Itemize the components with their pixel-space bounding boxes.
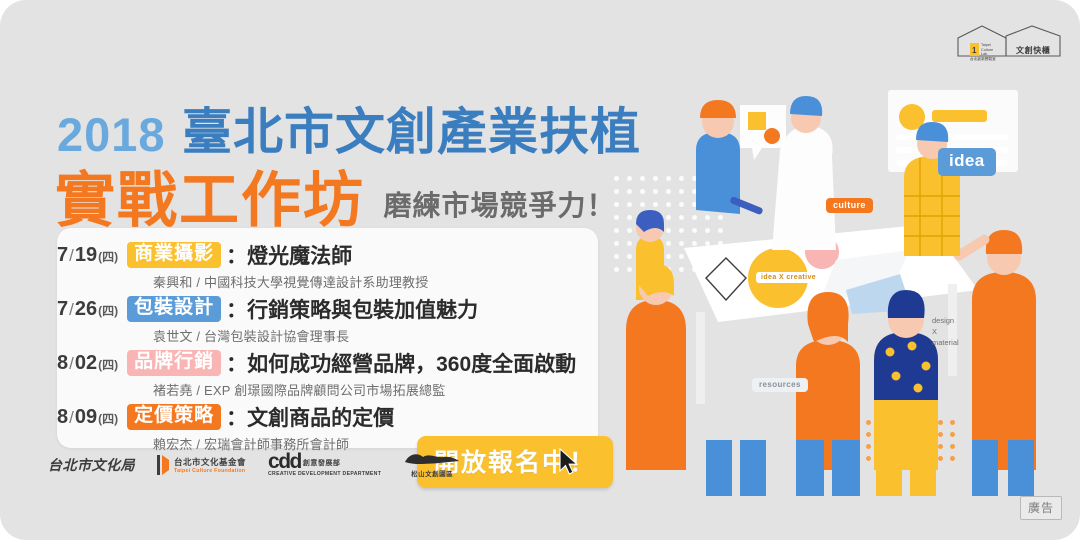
logo-label: 創意發展部 xyxy=(303,458,341,468)
schedule-row[interactable]: 8/02(四) 品牌行銷 ：如何成功經營品牌，360度全面啟動 褚若堯 / EX… xyxy=(57,348,598,399)
door-icon: 1 xyxy=(970,43,979,56)
schedule-card: 7/19(四) 商業攝影 ：燈光魔法師 秦興和 / 中國科技大學視覺傳達設計系助… xyxy=(57,228,598,448)
logo-label: 台北市文化局 xyxy=(48,455,135,475)
logo-label: 松山文創園區 xyxy=(411,468,453,478)
tag-culture: culture xyxy=(826,198,873,213)
leg-yellow-2 xyxy=(910,440,936,496)
label-design-x-material: design X material xyxy=(932,316,959,349)
leg-blue-5 xyxy=(706,440,732,496)
date-day: 02 xyxy=(75,352,97,374)
logo-sublabel: Taipei Culture Foundation xyxy=(174,468,246,474)
schedule-date-2: 8/02(四) xyxy=(57,352,118,375)
leg-blue-4 xyxy=(1008,440,1034,496)
category-tag-1: 包裝設計 xyxy=(127,296,221,321)
tag-idea-x-creative: idea X creative xyxy=(756,272,821,283)
subheadline: 實戰工作坊 磨練市場競爭力！ xyxy=(55,152,615,239)
session-title-0: ：燈光魔法師 xyxy=(226,240,352,270)
dm-line-2: X xyxy=(932,327,959,338)
date-day: 19 xyxy=(75,244,97,266)
date-weekday: (四) xyxy=(98,250,118,264)
category-tag-3: 定價策略 xyxy=(127,404,221,429)
svg-text:1: 1 xyxy=(972,46,977,55)
dm-line-3: material xyxy=(932,338,959,349)
left-content-column: 2018 臺北市文創產業扶植 實戰工作坊 磨練市場競爭力！ 7/19(四) 商業… xyxy=(0,0,620,540)
logo-sublabel: CREATIVE DEVELOPMENT DEPARTMENT xyxy=(268,471,381,477)
date-day: 26 xyxy=(75,298,97,320)
leg-blue-6 xyxy=(740,440,766,496)
cdd-mark: cdd xyxy=(268,453,301,470)
leg-blue-2 xyxy=(832,440,860,496)
workshop-illustration-svg xyxy=(600,0,1080,540)
category-tag-0: 商業攝影 xyxy=(127,242,221,267)
logo-creative-development-department: cdd 創意發展部 CREATIVE DEVELOPMENT DEPARTMEN… xyxy=(268,453,381,477)
schedule-date-0: 7/19(四) xyxy=(57,244,118,267)
small-speech-card xyxy=(740,105,786,160)
speaker-2: 褚若堯 / EXP 創璟國際品牌顧問公司市場拓展總監 xyxy=(153,380,598,399)
logo-label: 台北市文化基金會 xyxy=(174,456,246,468)
leg-blue-3 xyxy=(972,440,998,496)
tag-resources: resources xyxy=(752,378,808,392)
speaker-0: 秦興和 / 中國科技大學視覺傳達設計系助理教授 xyxy=(153,272,598,291)
mountain-icon xyxy=(403,452,461,467)
category-tag-2: 品牌行銷 xyxy=(127,350,221,375)
brand-badge[interactable]: 1 Taipei Culture Lab 台北創新實驗室 文創快櫃 xyxy=(956,24,1064,63)
schedule-date-3: 8/09(四) xyxy=(57,406,118,429)
badge-mini-line-3: 台北創新實驗室 xyxy=(970,57,996,62)
schedule-row[interactable]: 7/19(四) 商業攝影 ：燈光魔法師 秦興和 / 中國科技大學視覺傳達設計系助… xyxy=(57,240,598,291)
logo-songshan-creative-park: 松山文創園區 xyxy=(403,452,461,478)
speaker-1: 袁世文 / 台灣包裝設計協會理事長 xyxy=(153,326,598,345)
tagline: 磨練市場競爭力！ xyxy=(383,190,615,221)
date-month: 8 xyxy=(57,406,68,428)
ad-disclosure-label: 廣告 xyxy=(1020,496,1062,520)
schedule-row[interactable]: 7/26(四) 包裝設計 ：行銷策略與包裝加值魅力 袁世文 / 台灣包裝設計協會… xyxy=(57,294,598,345)
session-title-3: ：文創商品的定價 xyxy=(226,402,394,432)
mouse-pointer-icon xyxy=(558,448,582,478)
dm-line-1: design xyxy=(932,316,959,327)
session-title-2: ：如何成功經營品牌，360度全面啟動 xyxy=(226,348,576,378)
subtitle: 實戰工作坊 xyxy=(55,167,365,234)
date-month: 7 xyxy=(57,298,68,320)
logo-taipei-culture-bureau: 台北市文化局 xyxy=(48,455,135,475)
date-day: 09 xyxy=(75,406,97,428)
character-orange-coat xyxy=(626,264,686,470)
badge-mini-mark: 1 Taipei Culture Lab 台北創新實驗室 xyxy=(970,43,996,62)
date-month: 8 xyxy=(57,352,68,374)
badge-label: 文創快櫃 xyxy=(1016,45,1050,56)
advertisement-banner[interactable]: 2018 臺北市文創產業扶植 實戰工作坊 磨練市場競爭力！ 7/19(四) 商業… xyxy=(0,0,1080,540)
date-weekday: (四) xyxy=(98,304,118,318)
tag-idea: idea xyxy=(938,148,996,176)
illustration: culture idea idea X creative resources d… xyxy=(600,0,1080,540)
logo-taipei-culture-foundation: 台北市文化基金會 Taipei Culture Foundation xyxy=(157,454,246,476)
date-month: 7 xyxy=(57,244,68,266)
schedule-date-1: 7/26(四) xyxy=(57,298,118,321)
session-title-1: ：行銷策略與包裝加值魅力 xyxy=(226,294,478,324)
date-weekday: (四) xyxy=(98,412,118,426)
sponsor-logos: 台北市文化局 台北市文化基金會 Taipei Culture Foundatio… xyxy=(48,452,461,478)
date-weekday: (四) xyxy=(98,358,118,372)
foundation-mark-icon xyxy=(157,454,170,476)
leg-blue-1 xyxy=(796,440,824,496)
character-right-orange xyxy=(952,230,1036,470)
leg-yellow-1 xyxy=(876,440,902,496)
